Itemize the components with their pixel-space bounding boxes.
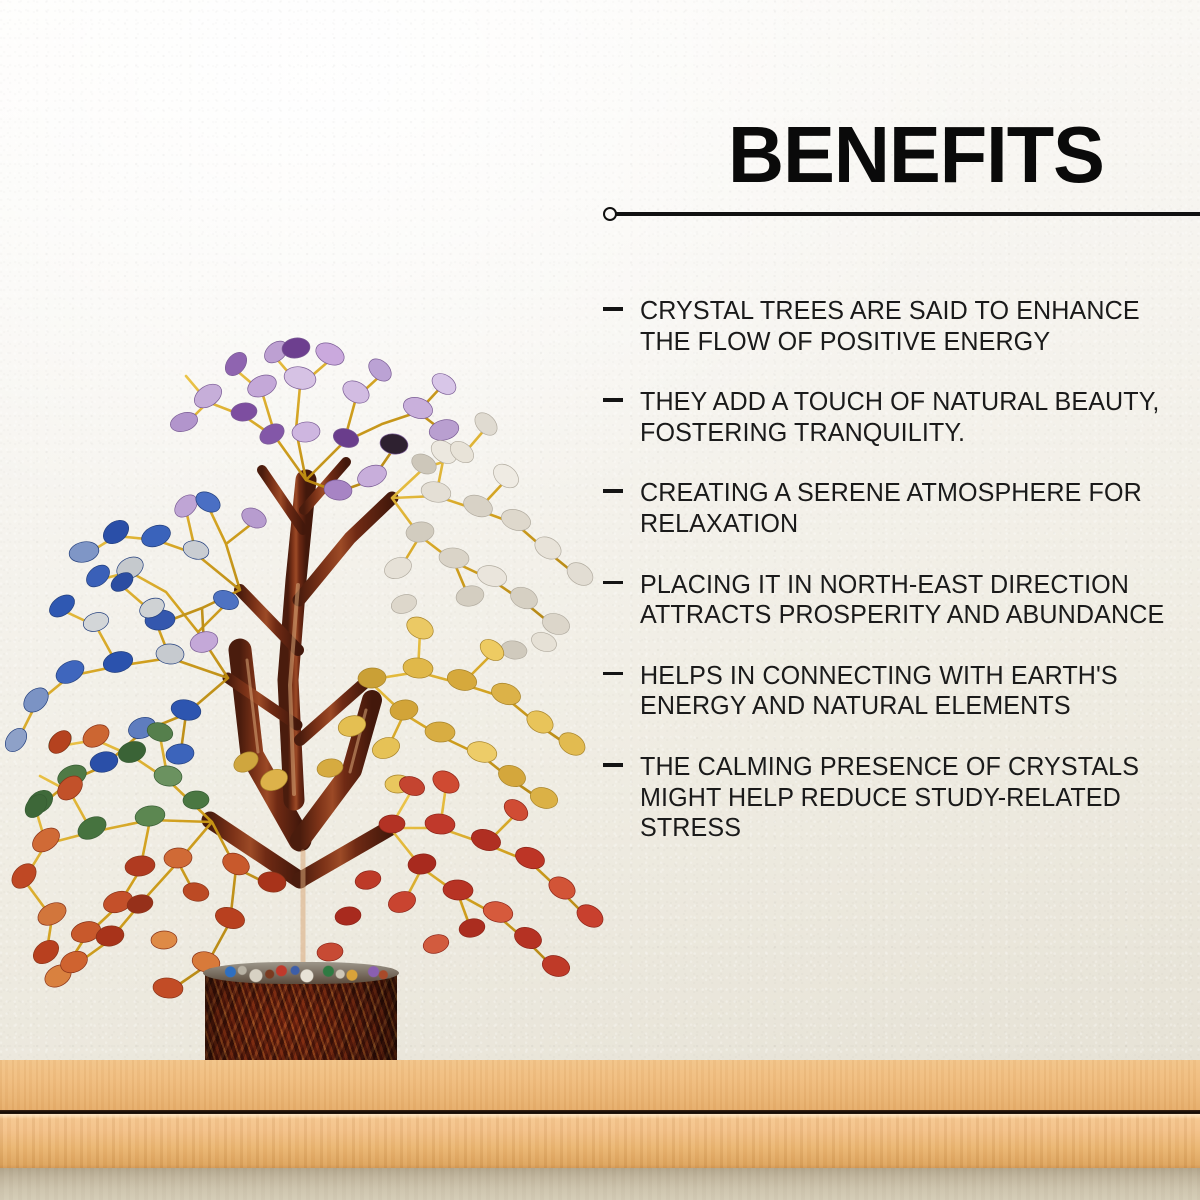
benefit-text: PLACING IT IN NORTH-EAST DIRECTION ATTRA… (640, 570, 1174, 631)
dash-bullet-icon (603, 307, 623, 311)
list-item: THE CALMING PRESENCE OF CRYSTALS MIGHT H… (602, 752, 1182, 844)
title-divider (602, 205, 1200, 223)
dash-bullet-icon (603, 581, 623, 585)
benefit-text: THE CALMING PRESENCE OF CRYSTALS MIGHT H… (640, 752, 1174, 844)
list-item: HELPS IN CONNECTING WITH EARTH'S ENERGY … (602, 661, 1182, 722)
shelf-top-surface (0, 1060, 1200, 1112)
red-jasper-stones (316, 766, 607, 979)
dash-bullet-icon (603, 489, 623, 493)
wooden-shelf (0, 1060, 1200, 1200)
benefit-text: CREATING A SERENE ATMOSPHERE FOR RELAXAT… (640, 478, 1174, 539)
shelf-front-highlight (0, 1114, 1200, 1119)
product-benefits-infographic: BENEFITS CRYSTAL TREES ARE SAID TO ENHAN… (0, 0, 1200, 1200)
shelf-front-face (0, 1114, 1200, 1169)
benefits-list: CRYSTAL TREES ARE SAID TO ENHANCE THE FL… (602, 296, 1182, 844)
base-top-stone-chips (203, 962, 399, 984)
list-item: CRYSTAL TREES ARE SAID TO ENHANCE THE FL… (602, 296, 1182, 357)
benefits-panel: BENEFITS CRYSTAL TREES ARE SAID TO ENHAN… (596, 0, 1200, 1065)
dash-bullet-icon (603, 398, 623, 402)
list-item: CREATING A SERENE ATMOSPHERE FOR RELAXAT… (602, 478, 1182, 539)
shelf-under-shadow (0, 1168, 1200, 1200)
list-item: THEY ADD A TOUCH OF NATURAL BEAUTY, FOST… (602, 387, 1182, 448)
dash-bullet-icon (603, 763, 623, 767)
divider-line (615, 212, 1200, 215)
page-title: BENEFITS (712, 117, 1119, 193)
benefit-text: CRYSTAL TREES ARE SAID TO ENHANCE THE FL… (640, 296, 1174, 357)
benefit-text: THEY ADD A TOUCH OF NATURAL BEAUTY, FOST… (640, 387, 1174, 448)
dash-bullet-icon (603, 672, 623, 676)
benefit-text: HELPS IN CONNECTING WITH EARTH'S ENERGY … (640, 661, 1174, 722)
list-item: PLACING IT IN NORTH-EAST DIRECTION ATTRA… (602, 570, 1182, 631)
